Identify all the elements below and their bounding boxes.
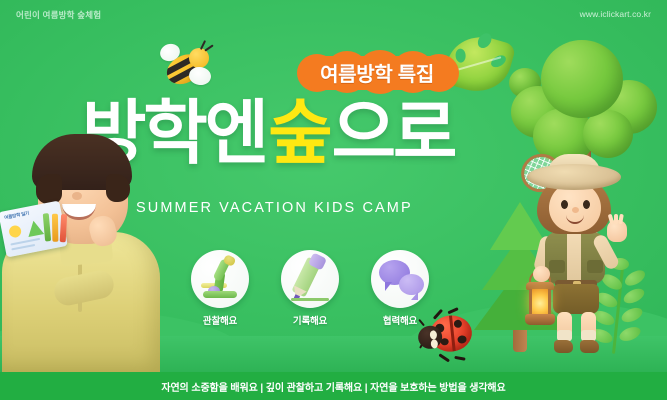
pencil-icon [281,250,339,308]
feature-label: 관찰해요 [203,313,237,327]
girl-boot [580,340,599,353]
microscope-base [203,291,237,298]
lantern-frame [548,289,551,315]
girl-vest-pocket [587,260,603,273]
boy-photo: 여름방학 일기 [0,122,164,372]
tree-foliage-blob [541,40,623,118]
badge-label: 여름방학 특집 [297,52,457,92]
girl-boot [554,340,573,353]
lantern-frame [529,289,532,315]
speech-bubble-secondary [399,274,424,295]
bee-antenna [204,44,213,51]
ladybug-eye [429,330,437,340]
feature-item-observe[interactable]: 관찰해요 [186,250,254,327]
page-subtitle: SUMMER VACATION KIDS CAMP [136,200,413,216]
microscope-icon [191,250,249,308]
ladybug-icon [416,309,478,361]
bottom-tagline-strip: 자연의 소중함을 배워요 | 깊이 관찰하고 기록해요 | 자연을 보호하는 방… [0,372,667,400]
girl-nose [572,207,579,213]
promo-badge: 여름방학 특집 [297,52,457,92]
ladybug-spot [453,319,462,328]
top-bar: 어린이 여름방학 숲체험 www.iclickart.co.kr [0,0,667,30]
bee-icon [158,40,216,90]
girl-shorts [553,284,599,314]
girl-hat-brim [527,164,621,190]
lantern-base [525,314,555,325]
notebook-tree-drawing [26,219,45,237]
feature-item-record[interactable]: 기록해요 [276,250,344,327]
notebook-pencil [52,214,58,242]
banner-root: 어린이 여름방학 숲체험 www.iclickart.co.kr [0,0,667,400]
speech-bubbles-icon [371,250,429,308]
website-url: www.iclickart.co.kr [580,9,651,19]
tree-foliage-blob [583,110,633,158]
girl-vest-opening [567,232,581,284]
top-left-label: 어린이 여름방학 숲체험 [16,9,101,21]
ladybug-spot [457,335,467,344]
girl-eye [561,200,568,209]
bottom-tagline: 자연의 소중함을 배워요 | 깊이 관찰하고 기록해요 | 자연을 보호하는 방… [161,379,505,394]
headline-part-3: 으로 [332,98,455,168]
girl-vest-pocket [549,260,565,273]
bee-wing [188,66,212,87]
girl-finger [618,214,624,225]
lantern-icon [523,274,557,332]
ladybug-antenna [418,319,425,326]
boy-nose [72,192,82,200]
girl-waving-hand [607,220,627,242]
girl-explorer-character [499,162,649,362]
headline-part-2: 숲 [268,98,329,168]
girl-eye [583,200,590,209]
feature-label: 협력해요 [383,313,417,327]
ladybug-leg [447,307,458,314]
pencil-underline [291,298,329,301]
feature-label: 기록해요 [293,313,327,327]
feature-list: 관찰해요 기록해요 협력해요 [186,250,434,327]
girl-lantern-hand [533,266,550,282]
boy-hair [32,134,132,190]
